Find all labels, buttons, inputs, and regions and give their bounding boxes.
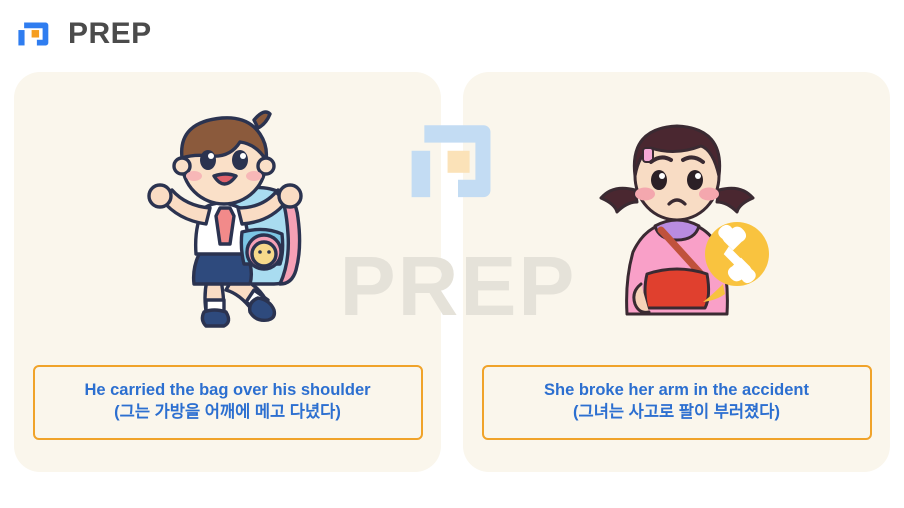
card-boy-backpack: He carried the bag over his shoulder (그는…: [14, 72, 441, 472]
caption-box: She broke her arm in the accident (그녀는 사…: [482, 365, 872, 440]
caption-english: She broke her arm in the accident: [494, 380, 860, 402]
card-girl-broken-arm: She broke her arm in the accident (그녀는 사…: [463, 72, 890, 472]
caption-english: He carried the bag over his shoulder: [45, 380, 411, 402]
page-root: PREP PREP: [0, 0, 904, 508]
card-row: He carried the bag over his shoulder (그는…: [14, 72, 890, 472]
caption-korean: (그는 가방을 어깨에 메고 다녔다): [45, 402, 411, 424]
brand-header: PREP: [14, 12, 152, 56]
illustration-girl-arm-sling: [463, 72, 890, 365]
caption-box: He carried the bag over his shoulder (그는…: [33, 365, 423, 440]
caption-korean: (그녀는 사고로 팔이 부러졌다): [494, 402, 860, 424]
illustration-boy-with-backpack: [14, 72, 441, 365]
brand-wordmark: PREP: [68, 19, 152, 49]
prep-logo-icon: [14, 12, 58, 56]
